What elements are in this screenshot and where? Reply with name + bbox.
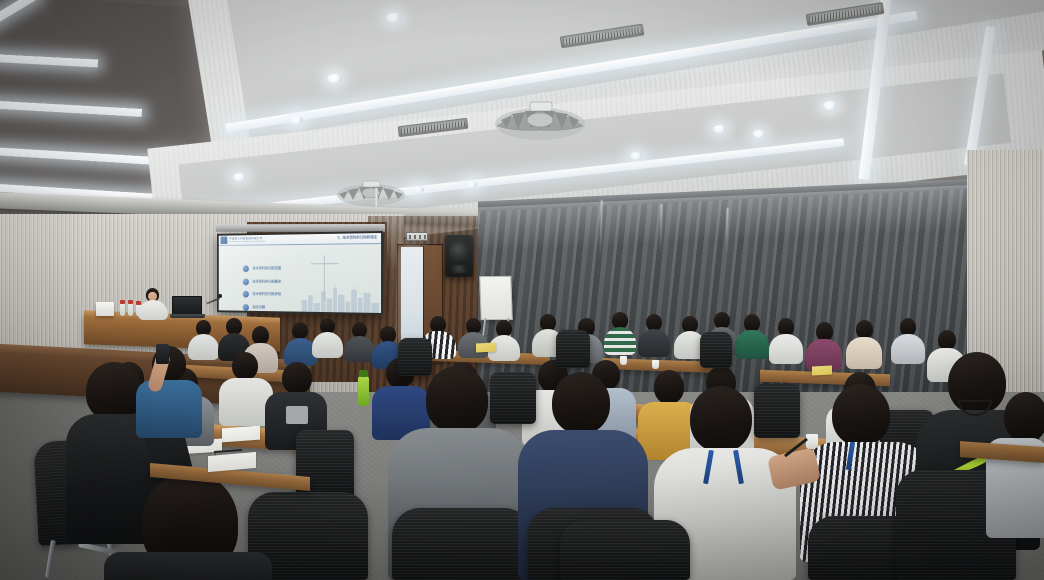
flipchart-easel	[479, 276, 513, 320]
ceiling-downlight	[466, 181, 477, 188]
attendee-head	[292, 322, 308, 339]
office-chair	[700, 332, 732, 368]
attendee-body	[136, 380, 202, 438]
attendee-body	[104, 552, 272, 580]
smartphone[interactable]	[156, 344, 169, 364]
attendee-head	[690, 386, 752, 452]
ceiling-downlight	[327, 74, 342, 83]
attendee-body	[891, 334, 925, 364]
slide-bullet-label: 技术资料的归档范围	[252, 266, 281, 271]
attendee-body	[188, 334, 219, 360]
ceiling-downlight	[630, 152, 642, 160]
microphone-head-icon	[218, 294, 222, 298]
projection-screen: 中国电子科技集团有限公司 China Electronics Technolog…	[217, 231, 383, 315]
bottle-cap	[359, 370, 368, 377]
slide-bullet-item: 技术资料的归档要求	[243, 278, 281, 285]
green-drink-bottle	[358, 376, 369, 406]
ceiling-downlight	[713, 125, 726, 133]
slide-bullet-label: 技术资料的归档要求	[252, 279, 281, 284]
slide-divider-horizontal	[311, 263, 339, 264]
bullet-dot-icon	[243, 304, 249, 311]
attendee-head	[938, 330, 956, 350]
attendee-head	[282, 362, 312, 394]
attendee-head	[426, 366, 488, 432]
slide-bullet-item: 相关问题	[243, 304, 281, 311]
office-chair	[398, 338, 432, 376]
wall-speaker	[445, 235, 473, 277]
attendee-body	[312, 332, 343, 358]
attendee-head	[552, 372, 610, 434]
tissue-box	[96, 302, 114, 316]
conference-room-photo: 中国电子科技集团有限公司 China Electronics Technolog…	[0, 0, 1044, 580]
bullet-dot-icon	[243, 265, 249, 272]
bullet-dot-icon	[243, 291, 249, 298]
slide-section-title: 5、技术资料的归档和规定	[337, 235, 377, 241]
attendee-body	[344, 336, 375, 362]
ceiling-downlight	[233, 173, 246, 181]
attendee-head	[1004, 392, 1044, 442]
presentation-slide: 中国电子科技集团有限公司 China Electronics Technolog…	[219, 233, 381, 313]
notepad	[222, 426, 260, 443]
company-logo-icon	[220, 236, 227, 244]
office-chair	[490, 372, 536, 424]
tshirt-graphic-print	[286, 406, 308, 424]
office-chair	[556, 330, 590, 368]
office-chair	[560, 520, 690, 580]
attendee-body	[769, 334, 803, 364]
office-chair	[754, 384, 800, 438]
slide-bullet-label: 技术资料的归档考核	[252, 292, 281, 297]
name-tent-card	[476, 342, 496, 352]
office-chair	[392, 508, 532, 580]
slide-company-name-en: China Electronics Technology Group Corpo…	[227, 240, 265, 243]
attendee-body	[638, 329, 670, 357]
slide-bullet-item: 技术资料的归档考核	[243, 291, 281, 298]
attendee-head	[232, 352, 258, 380]
laptop-base	[170, 314, 205, 318]
attendee-body	[604, 327, 636, 355]
slide-bullet-item: 技术资料的归档范围	[243, 265, 281, 272]
ceiling-downlight	[289, 116, 303, 124]
water-bottle	[120, 303, 125, 316]
wall-control-panel[interactable]	[406, 232, 428, 241]
slide-bullet-list: 技术资料的归档范围 技术资料的归档要求 技术资料的归档考核 相关问题	[243, 265, 281, 313]
water-bottle	[128, 303, 133, 316]
attendee-head	[654, 370, 684, 404]
bottle-cap	[120, 300, 125, 304]
slide-bullet-label: 相关问题	[252, 305, 265, 310]
ceiling-downlight	[413, 186, 424, 193]
paper-cup	[620, 356, 627, 365]
paper-cup	[652, 360, 659, 369]
name-tent-card	[812, 365, 832, 375]
city-skyline-graphic	[300, 283, 381, 313]
ceiling-downlight	[753, 130, 765, 138]
laptop-screen	[172, 296, 202, 315]
bottle-cap	[128, 300, 133, 304]
attendee-head	[832, 384, 890, 446]
attendee-body	[846, 337, 882, 369]
attendee-body	[735, 330, 769, 359]
ceiling-downlight	[823, 101, 837, 110]
attendee-head	[86, 362, 142, 420]
ceiling-downlight	[386, 13, 401, 22]
bullet-dot-icon	[243, 278, 249, 285]
slide-header-bar: 中国电子科技集团有限公司 China Electronics Technolog…	[219, 233, 381, 246]
